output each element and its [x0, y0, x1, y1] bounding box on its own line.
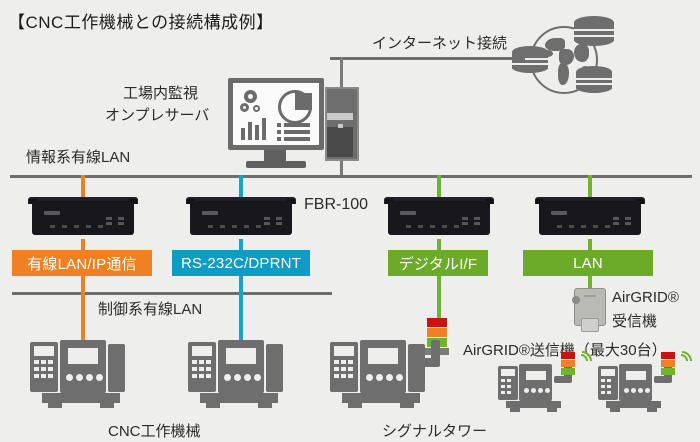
- drop-line-green-digital-bottom: [437, 276, 441, 318]
- cnc-machine-1: [30, 340, 135, 408]
- drop-line-cyan-mid: [239, 239, 243, 250]
- control-lan-bus: [12, 292, 332, 295]
- badge-wired-lan-ip[interactable]: 有線LAN/IP通信: [12, 250, 152, 276]
- server-label-line2: オンプレサーバ: [105, 104, 209, 125]
- cnc-machine-3: [330, 340, 450, 408]
- drop-line-cyan-bottom: [239, 276, 243, 341]
- internet-link-line: [330, 57, 525, 60]
- drop-line-orange-top: [81, 175, 85, 199]
- diagram-canvas: 【CNC工作機械との接続構成例】 インターネット接続: [0, 0, 700, 442]
- drop-line-orange-bottom: [81, 276, 85, 341]
- internet-connection-label: インターネット接続: [372, 32, 507, 53]
- router-device-1: [28, 197, 138, 239]
- monitor-chart-icon: [228, 78, 324, 170]
- drop-line-green-lan-top: [588, 175, 592, 199]
- cnc-machines-label: CNC工作機械: [108, 420, 201, 441]
- badge-lan[interactable]: LAN: [523, 250, 653, 276]
- control-lan-label: 制御系有線LAN: [98, 298, 202, 319]
- router-device-3: [384, 197, 494, 239]
- info-lan-label: 情報系有線LAN: [26, 146, 130, 167]
- badge-digital-if[interactable]: デジタルI/F: [388, 250, 488, 276]
- drop-line-green-digital-mid: [437, 239, 441, 250]
- page-title: 【CNC工作機械との接続構成例】: [8, 8, 274, 33]
- tower-uplink-line: [340, 57, 343, 87]
- drop-line-cyan-top: [239, 175, 243, 199]
- pc-tower-icon: [325, 87, 359, 161]
- wifi-wave-icon-2: [674, 350, 696, 372]
- server-label-line1: 工場内監視: [123, 82, 198, 103]
- drop-line-orange-mid: [81, 239, 85, 250]
- drop-line-green-digital-top: [437, 175, 441, 199]
- router-device-4: [535, 197, 645, 239]
- signal-tower-label: シグナルタワー: [382, 420, 487, 441]
- badge-rs232c-dprnt[interactable]: RS-232C/DPRNT: [172, 250, 310, 276]
- airgrid-receiver-icon: [572, 288, 608, 334]
- airgrid-receiver-label-line2: 受信機: [612, 310, 657, 331]
- globe-database-icon: [512, 14, 617, 99]
- wifi-wave-icon-1: [574, 350, 596, 372]
- airgrid-receiver-label-line1: AirGRID®: [612, 289, 679, 306]
- router-device-2: [186, 197, 296, 239]
- drop-line-green-lan-mid: [588, 239, 592, 250]
- device-model-label: FBR-100: [304, 196, 368, 214]
- cnc-machine-2: [188, 340, 293, 408]
